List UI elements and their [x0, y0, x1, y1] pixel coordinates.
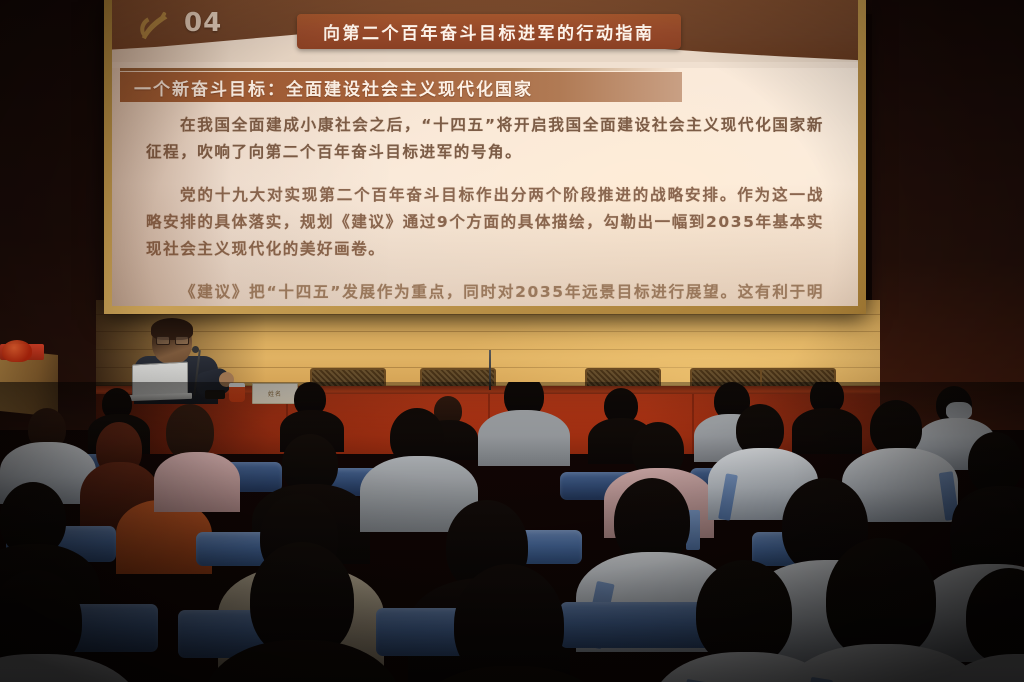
slide-paragraph-3: 《建议》把“十四五”发展作为重点，同时对2035年远景目标进行展望。这有利于明确… — [146, 279, 824, 306]
microphone-head — [192, 346, 199, 353]
slide-title: 向第二个百年奋斗目标进军的行动指南 — [297, 14, 681, 49]
slide-header-band: 04 向第二个百年奋斗目标进军的行动指南 — [112, 0, 858, 62]
presenter-glasses-icon — [156, 336, 187, 343]
podium-flower-decoration — [2, 340, 32, 362]
slide-section-number: 04 — [184, 8, 222, 38]
slide-paragraph-1: 在我国全面建成小康社会之后，“十四五”将开启我国全面建设社会主义现代化国家新征程… — [146, 112, 824, 166]
right-dark-wall — [872, 0, 1024, 430]
slide-subtitle-bar: 一个新奋斗目标：全面建设社会主义现代化国家 — [120, 72, 682, 102]
slide-subtitle-text: 一个新奋斗目标：全面建设社会主义现代化国家 — [120, 75, 533, 100]
projection-screen: 04 向第二个百年奋斗目标进军的行动指南 一个新奋斗目标：全面建设社会主义现代化… — [112, 0, 858, 306]
slide-paragraph-2: 党的十九大对实现第二个百年奋斗目标作出分两个阶段推进的战略安排。作为这一战略安排… — [146, 182, 824, 263]
subtitle-rule — [120, 68, 680, 71]
audience-area — [0, 382, 1024, 682]
hammer-and-sickle-icon — [134, 8, 180, 44]
slide-body: 在我国全面建成小康社会之后，“十四五”将开启我国全面建设社会主义现代化国家新征程… — [146, 112, 824, 306]
lecture-hall-photo: 04 向第二个百年奋斗目标进军的行动指南 一个新奋斗目标：全面建设社会主义现代化… — [0, 0, 1024, 682]
